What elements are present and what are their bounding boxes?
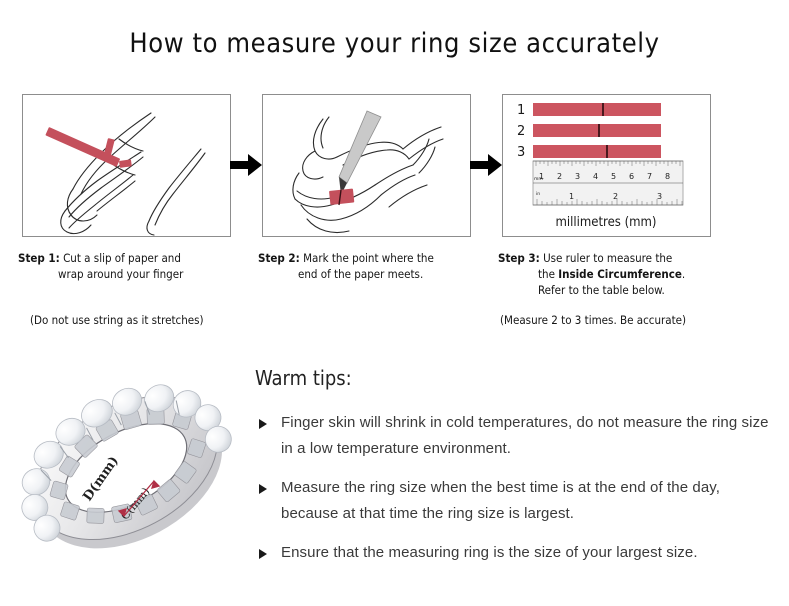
measure-strip-2 (533, 124, 661, 137)
step-3-line2: the Inside Circumference. (498, 266, 738, 282)
warm-tips-heading: Warm tips: (255, 366, 775, 390)
paper-strip-marked-shape (329, 188, 354, 205)
ring-photo-illustration: D(mm) C(mm) (18, 356, 250, 582)
measure-strip-3 (533, 145, 661, 158)
tip-text: Finger skin will shrink in cold temperat… (281, 414, 769, 457)
step-1-line1: Cut a slip of paper and (63, 251, 181, 265)
step-3-note: (Measure 2 to 3 times. Be accurate) (500, 313, 686, 327)
step-2-caption: Step 2: Mark the point where the end of … (258, 250, 490, 282)
step-1-note: (Do not use string as it stretches) (30, 313, 204, 327)
step-2-line2: end of the paper meets. (258, 266, 490, 282)
warm-tips-section: Warm tips: Finger skin will shrink in co… (255, 366, 775, 579)
step-3-line2-suffix: . (682, 267, 685, 281)
strip-number-1: 1 (517, 103, 525, 118)
step-3-label: Step 3: (498, 251, 540, 265)
strip-number-3: 3 (517, 145, 525, 160)
bullet-triangle-icon (259, 419, 267, 429)
hand-marking-with-pen-icon (263, 95, 470, 236)
ring-diagram: D(mm) C(mm) (18, 356, 250, 582)
svg-text:1: 1 (569, 192, 574, 201)
step-3-line1: Use ruler to measure the (543, 251, 672, 265)
step-2-label: Step 2: (258, 251, 300, 265)
svg-text:8: 8 (665, 172, 670, 181)
svg-text:4: 4 (593, 172, 598, 181)
svg-text:mm: mm (534, 177, 543, 182)
svg-text:3: 3 (657, 192, 662, 201)
tip-item: Measure the ring size when the best time… (255, 475, 775, 527)
arrow-step2-to-step3-icon (468, 150, 504, 180)
step-1-label: Step 1: (18, 251, 60, 265)
hand-with-paper-strip-icon (23, 95, 230, 236)
svg-text:5: 5 (611, 172, 616, 181)
tip-item: Ensure that the measuring ring is the si… (255, 540, 775, 566)
inside-circumference-emphasis: Inside Circumference (558, 267, 682, 281)
step-2-panel (262, 94, 471, 237)
step-1-panel (22, 94, 231, 237)
svg-text:in: in (536, 191, 540, 197)
step-3-line2-prefix: the (538, 267, 558, 281)
step-3-caption: Step 3: Use ruler to measure the the Ins… (498, 250, 738, 298)
ruler-with-strips-icon: 1 2 3 (503, 95, 710, 236)
measure-strip-1 (533, 103, 661, 116)
tip-text: Ensure that the measuring ring is the si… (281, 544, 698, 561)
ruler-shape: 12 34 56 78 mm 12 3 in (533, 161, 683, 205)
svg-text:2: 2 (613, 192, 618, 201)
tip-item: Finger skin will shrink in cold temperat… (255, 410, 775, 462)
svg-text:2: 2 (557, 172, 562, 181)
page-title: How to measure your ring size accurately (0, 28, 789, 59)
arrow-step1-to-step2-icon (228, 150, 264, 180)
bullet-triangle-icon (259, 549, 267, 559)
tip-text: Measure the ring size when the best time… (281, 479, 720, 522)
svg-text:3: 3 (575, 172, 580, 181)
svg-text:6: 6 (629, 172, 634, 181)
step-2-line1: Mark the point where the (303, 251, 434, 265)
strip-number-2: 2 (517, 124, 525, 139)
step-1-caption: Step 1: Cut a slip of paper and wrap aro… (18, 250, 248, 282)
bullet-triangle-icon (259, 484, 267, 494)
svg-text:7: 7 (647, 172, 652, 181)
step-3-panel: 1 2 3 (502, 94, 711, 237)
step-1-line2: wrap around your finger (18, 266, 248, 282)
ruler-unit-caption: millimetres (mm) (555, 215, 656, 230)
step-3-line3: Refer to the table below. (498, 282, 738, 298)
steps-row: 1 2 3 (22, 94, 722, 239)
